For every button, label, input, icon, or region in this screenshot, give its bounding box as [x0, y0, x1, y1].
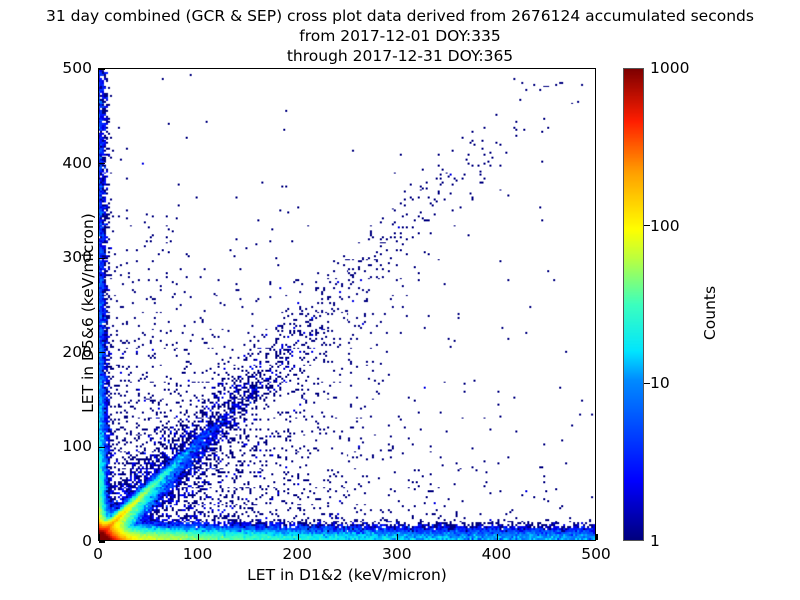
x-tick — [298, 534, 299, 540]
y-tick — [99, 541, 105, 542]
x-tick-label: 500 — [581, 545, 611, 563]
plot-area[interactable] — [98, 68, 596, 541]
y-tick-label: 500 — [0, 59, 92, 77]
x-tick-label: 200 — [282, 545, 312, 563]
y-tick — [99, 258, 105, 259]
figure-canvas: 31 day combined (GCR & SEP) cross plot d… — [0, 0, 800, 600]
x-tick — [198, 534, 199, 540]
y-tick-label: 0 — [0, 532, 92, 550]
density-scatter-plot — [99, 69, 595, 540]
y-axis-label: LET in D5&6 (keV/micron) — [79, 103, 97, 523]
colorbar-tick-label: 10 — [650, 374, 670, 392]
x-axis-label: LET in D1&2 (keV/micron) — [98, 566, 596, 584]
x-tick-label: 0 — [93, 545, 103, 563]
x-tick-label: 100 — [183, 545, 213, 563]
colorbar[interactable] — [623, 68, 644, 541]
y-tick — [99, 163, 105, 164]
colorbar-label: Counts — [701, 203, 719, 423]
x-tick — [596, 534, 597, 540]
x-tick — [98, 534, 99, 540]
y-tick — [99, 68, 105, 69]
chart-title: 31 day combined (GCR & SEP) cross plot d… — [0, 6, 800, 66]
colorbar-gradient — [624, 69, 643, 540]
colorbar-tick-label: 1 — [650, 532, 660, 550]
y-tick — [99, 352, 105, 353]
colorbar-tick-label: 1000 — [650, 59, 689, 77]
colorbar-tick-label: 100 — [650, 217, 680, 235]
x-tick-label: 400 — [482, 545, 512, 563]
x-tick — [497, 534, 498, 540]
title-line-2: from 2017-12-01 DOY:335 — [0, 26, 800, 46]
y-tick — [99, 447, 105, 448]
x-tick-label: 300 — [382, 545, 412, 563]
x-tick — [397, 534, 398, 540]
title-line-1: 31 day combined (GCR & SEP) cross plot d… — [0, 6, 800, 26]
